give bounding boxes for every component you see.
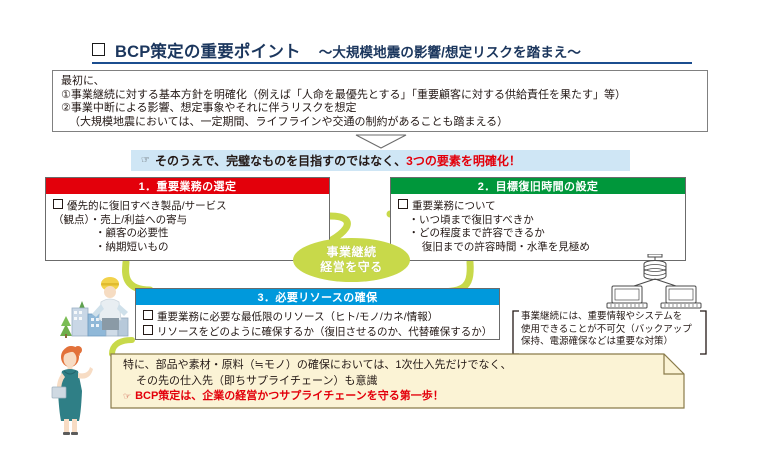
callout-red-text: BCP策定は、企業の経営かつサプライチェーンを守る第一歩！ xyxy=(135,390,444,402)
step-box-1: 1．重要業務の選定 優先的に復旧すべき製品/サービス （観点）・売上/利益への寄… xyxy=(45,177,330,261)
callout-box: 特に、部品や素材・原料（≒モノ）の確保においては、1次仕入先だけでなく、 その先… xyxy=(110,353,685,409)
step-2-line-2: ・いつ頃まで復旧すべきか xyxy=(398,214,679,228)
step-box-3: 3．必要リソースの確保 重要業務に必要な最低限のリソース（ヒト/モノ/カネ/情報… xyxy=(135,288,500,340)
step-3-line-2: リソースをどのように確保するか（復旧させるのか、代替確保するか） xyxy=(143,325,493,340)
step-2-line-4: 復旧までの許容時間・水準を見極め xyxy=(398,241,679,255)
down-arrow-icon xyxy=(355,134,407,149)
server-network-illustration xyxy=(600,254,710,312)
city-worker-illustration xyxy=(44,268,144,338)
highlight-banner: ☞ そのうえで、完璧なものを目指すのではなく、3つの要素を明確化！ xyxy=(131,150,630,171)
checkbox-empty-icon[interactable] xyxy=(143,310,153,320)
pointing-hand-icon: ☞ xyxy=(141,156,150,166)
intro-line-4: （大規模地震においては、一定期間、ライフラインや交通の制約があることも踏まえる） xyxy=(61,116,699,130)
step-2-header: 2．目標復旧時間の設定 xyxy=(391,178,685,194)
step-1-line-1-text: 優先的に復旧すべき製品/サービス xyxy=(67,200,227,212)
step-3-header: 3．必要リソースの確保 xyxy=(136,289,499,305)
step-1-line-4: ・納期短いもの xyxy=(53,241,323,255)
center-oval-line-1: 事業継続 xyxy=(326,245,376,260)
checkbox-empty-icon[interactable] xyxy=(53,199,63,209)
bracket-note-line-1: 事業継続には、重要情報やシステムを xyxy=(521,311,703,324)
pointing-hand-icon: ☞ xyxy=(123,391,131,401)
checkbox-empty-icon[interactable] xyxy=(398,199,408,209)
page-title-main: BCP策定の重要ポイント xyxy=(115,38,301,62)
step-box-2: 2．目標復旧時間の設定 重要業務について ・いつ頃まで復旧すべきか ・どの程度ま… xyxy=(390,177,686,261)
checkbox-empty-icon[interactable] xyxy=(143,325,153,335)
bracket-note: 事業継続には、重要情報やシステムを 使用できることが不可欠（バックアップ 保持、… xyxy=(512,310,707,355)
step-1-line-2: （観点）・売上/利益への寄与 xyxy=(53,214,323,228)
step-2-line-1: 重要業務について xyxy=(398,199,679,214)
bcp-slide: BCP策定の重要ポイント ～大規模地震の影響/想定リスクを踏まえ～ 最初に、 ①… xyxy=(0,0,760,449)
bracket-note-line-2: 使用できることが不可欠（バックアップ xyxy=(521,324,703,337)
bracket-note-text: 事業継続には、重要情報やシステムを 使用できることが不可欠（バックアップ 保持、… xyxy=(521,311,703,349)
step-1-body: 優先的に復旧すべき製品/サービス （観点）・売上/利益への寄与 ・顧客の必要性 … xyxy=(46,194,329,258)
callout-text: 特に、部品や素材・原料（≒モノ）の確保においては、1次仕入先だけでなく、 その先… xyxy=(123,358,675,405)
callout-line-2: その先の仕入先（即ちサプライチェーン）も意識 xyxy=(123,374,675,390)
banner-text-highlight: 3つの要素を明確化！ xyxy=(406,154,521,168)
step-1-header: 1．重要業務の選定 xyxy=(46,178,329,194)
step-1-line-1: 優先的に復旧すべき製品/サービス xyxy=(53,199,323,214)
page-title: BCP策定の重要ポイント ～大規模地震の影響/想定リスクを踏まえ～ xyxy=(92,38,692,62)
banner-text: そのうえで、完璧なものを目指すのではなく、3つの要素を明確化！ xyxy=(155,152,521,169)
step-1-line-3: ・顧客の必要性 xyxy=(53,227,323,241)
center-oval-line-2: 経営を守る xyxy=(320,260,383,275)
intro-box: 最初に、 ①事業継続に対する基本方針を明確化（例えば「人命を最優先とする」「重要… xyxy=(52,70,708,132)
intro-line-1: 最初に、 xyxy=(61,75,699,89)
title-underline xyxy=(92,62,692,64)
businesswoman-illustration xyxy=(36,341,106,436)
center-oval-badge: 事業継続 経営を守る xyxy=(293,238,410,282)
callout-line-1: 特に、部品や素材・原料（≒モノ）の確保においては、1次仕入先だけでなく、 xyxy=(123,358,675,374)
bracket-note-line-3: 保持、電源確保などは重要な対策） xyxy=(521,336,703,349)
intro-line-3: ②事業中断による影響、想定事象やそれに伴うリスクを想定 xyxy=(61,102,699,116)
page-title-sub: ～大規模地震の影響/想定リスクを踏まえ～ xyxy=(319,41,581,61)
callout-line-red: ☞BCP策定は、企業の経営かつサプライチェーンを守る第一歩！ xyxy=(123,389,675,405)
step-2-line-1-text: 重要業務について xyxy=(412,200,496,212)
step-3-line-1-text: 重要業務に必要な最低限のリソース（ヒト/モノ/カネ/情報） xyxy=(157,311,438,323)
banner-text-before: そのうえで、完璧なものを目指すのではなく、 xyxy=(155,154,406,168)
step-3-line-2-text: リソースをどのように確保するか（復旧させるのか、代替確保するか） xyxy=(157,326,492,338)
step-3-body: 重要業務に必要な最低限のリソース（ヒト/モノ/カネ/情報） リソースをどのように… xyxy=(136,305,499,343)
step-3-line-1: 重要業務に必要な最低限のリソース（ヒト/モノ/カネ/情報） xyxy=(143,310,493,325)
checkbox-empty-icon xyxy=(92,43,105,56)
intro-line-2: ①事業継続に対する基本方針を明確化（例えば「人命を最優先とする」「重要顧客に対す… xyxy=(61,89,699,103)
step-2-body: 重要業務について ・いつ頃まで復旧すべきか ・どの程度まで許容できるか 復旧まで… xyxy=(391,194,685,258)
step-2-line-3: ・どの程度まで許容できるか xyxy=(398,227,679,241)
